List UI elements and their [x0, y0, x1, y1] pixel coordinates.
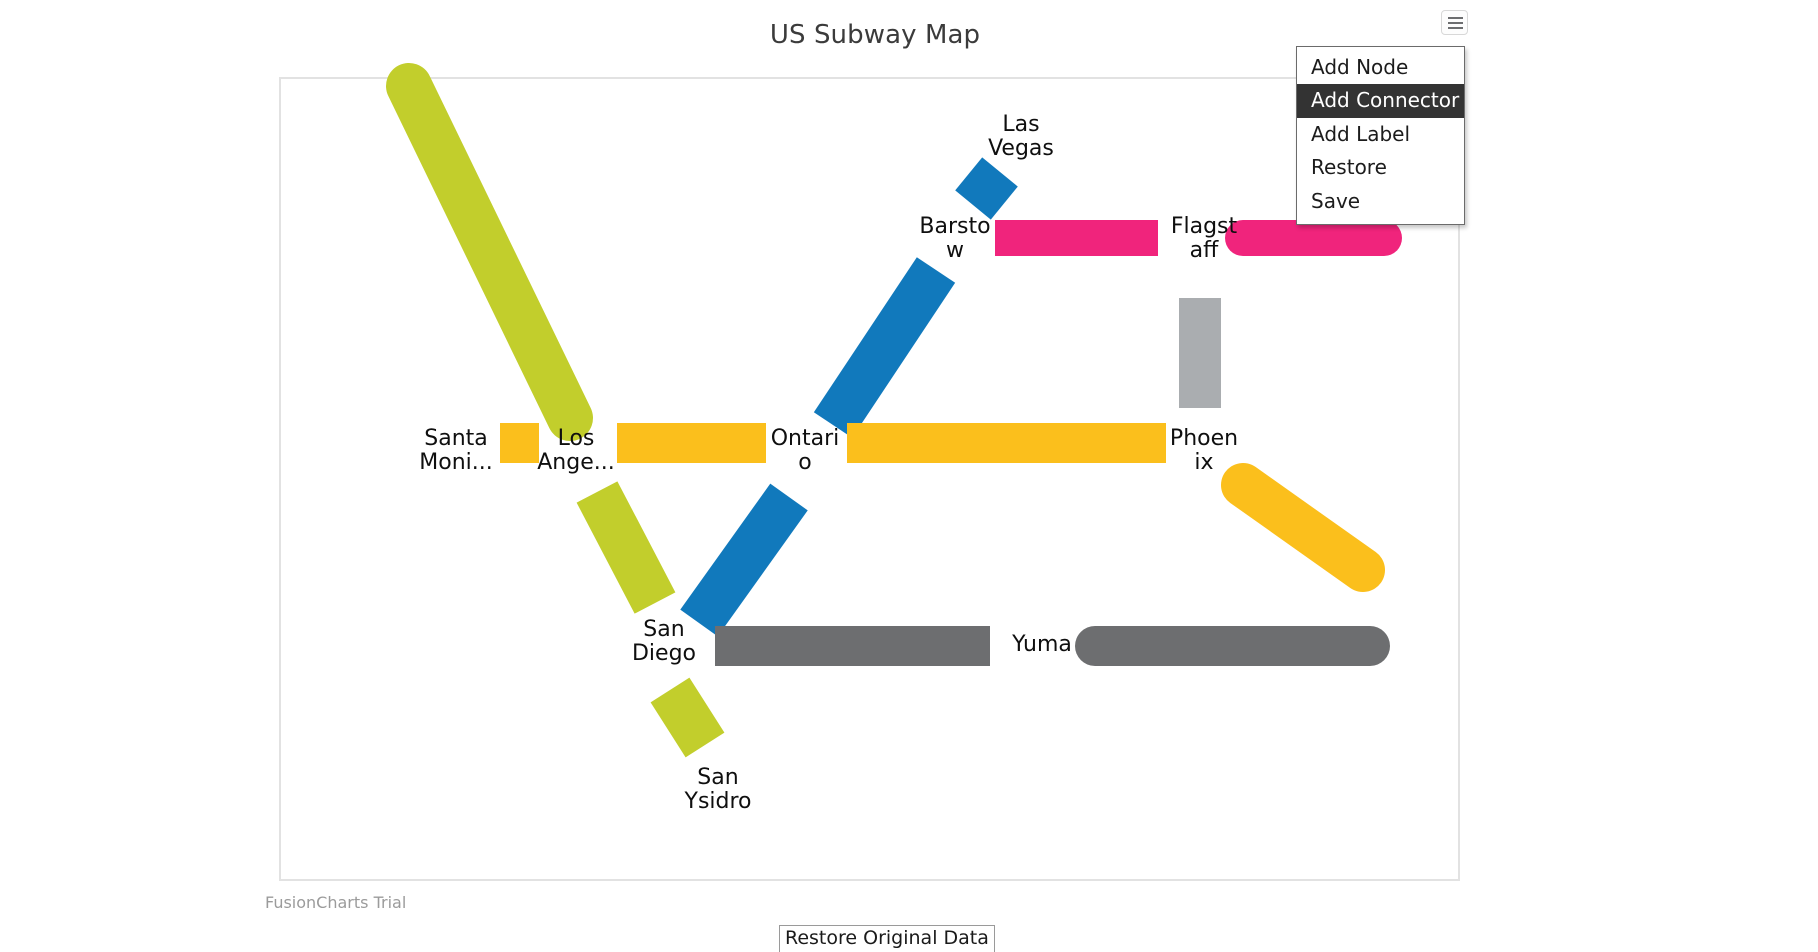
node-label-barstow[interactable]: Barsto w [902, 215, 1008, 263]
fusioncharts-watermark: FusionCharts Trial [265, 893, 406, 912]
node-label-las-vegas[interactable]: Las Vegas [963, 113, 1079, 161]
menu-item-add-node[interactable]: Add Node [1297, 51, 1464, 84]
node-label-san-diego[interactable]: San Diego [608, 618, 720, 666]
node-label-los-angeles[interactable]: Los Ange... [520, 427, 632, 475]
node-label-flagstaff[interactable]: Flagst aff [1152, 215, 1256, 263]
hamburger-icon[interactable] [1441, 10, 1468, 35]
menu-item-add-connector[interactable]: Add Connector [1297, 84, 1464, 117]
map-canvas[interactable] [279, 77, 1460, 881]
context-menu: Add Node Add Connector Add Label Restore… [1296, 46, 1465, 225]
restore-original-data-button[interactable]: Restore Original Data [779, 925, 995, 952]
node-label-phoenix[interactable]: Phoen ix [1152, 427, 1256, 475]
hamburger-bar-2 [1448, 22, 1463, 24]
hamburger-bar-1 [1448, 17, 1463, 19]
page-title: US Subway Map [0, 20, 1750, 50]
node-label-yuma[interactable]: Yuma [990, 633, 1094, 657]
subway-map-app: US Subway Map .ln { stroke-linecap: butt… [0, 0, 1818, 952]
menu-item-save[interactable]: Save [1297, 185, 1464, 218]
node-label-ontario[interactable]: Ontari o [752, 427, 858, 475]
node-label-san-ysidro[interactable]: San Ysidro [662, 766, 774, 814]
node-label-santa-monica[interactable]: Santa Moni... [394, 427, 518, 475]
menu-item-add-label[interactable]: Add Label [1297, 118, 1464, 151]
hamburger-bar-3 [1448, 27, 1463, 29]
menu-item-restore[interactable]: Restore [1297, 151, 1464, 184]
